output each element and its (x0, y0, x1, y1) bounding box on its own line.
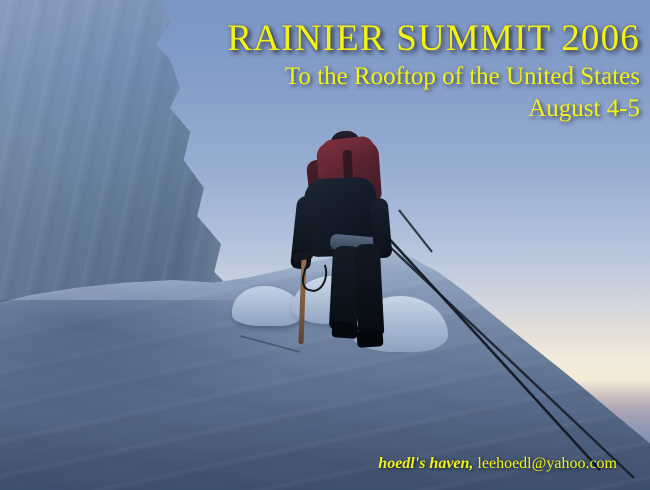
title-block: RAINIER SUMMIT 2006 To the Rooftop of th… (227, 20, 640, 124)
subtitle: To the Rooftop of the United States (227, 61, 640, 92)
site-name: hoedl's haven, (378, 455, 473, 472)
credit-line: hoedl's haven, leehoedl@yahoo.com (378, 455, 617, 473)
email-address: leehoedl@yahoo.com (477, 455, 617, 472)
climber-right-boot (356, 329, 383, 348)
climber-left-boot (331, 321, 358, 339)
climber-right-leg (354, 243, 385, 336)
poster-image: RAINIER SUMMIT 2006 To the Rooftop of th… (0, 0, 650, 490)
date-label: August 4-5 (227, 93, 640, 124)
page-title: RAINIER SUMMIT 2006 (227, 20, 640, 59)
